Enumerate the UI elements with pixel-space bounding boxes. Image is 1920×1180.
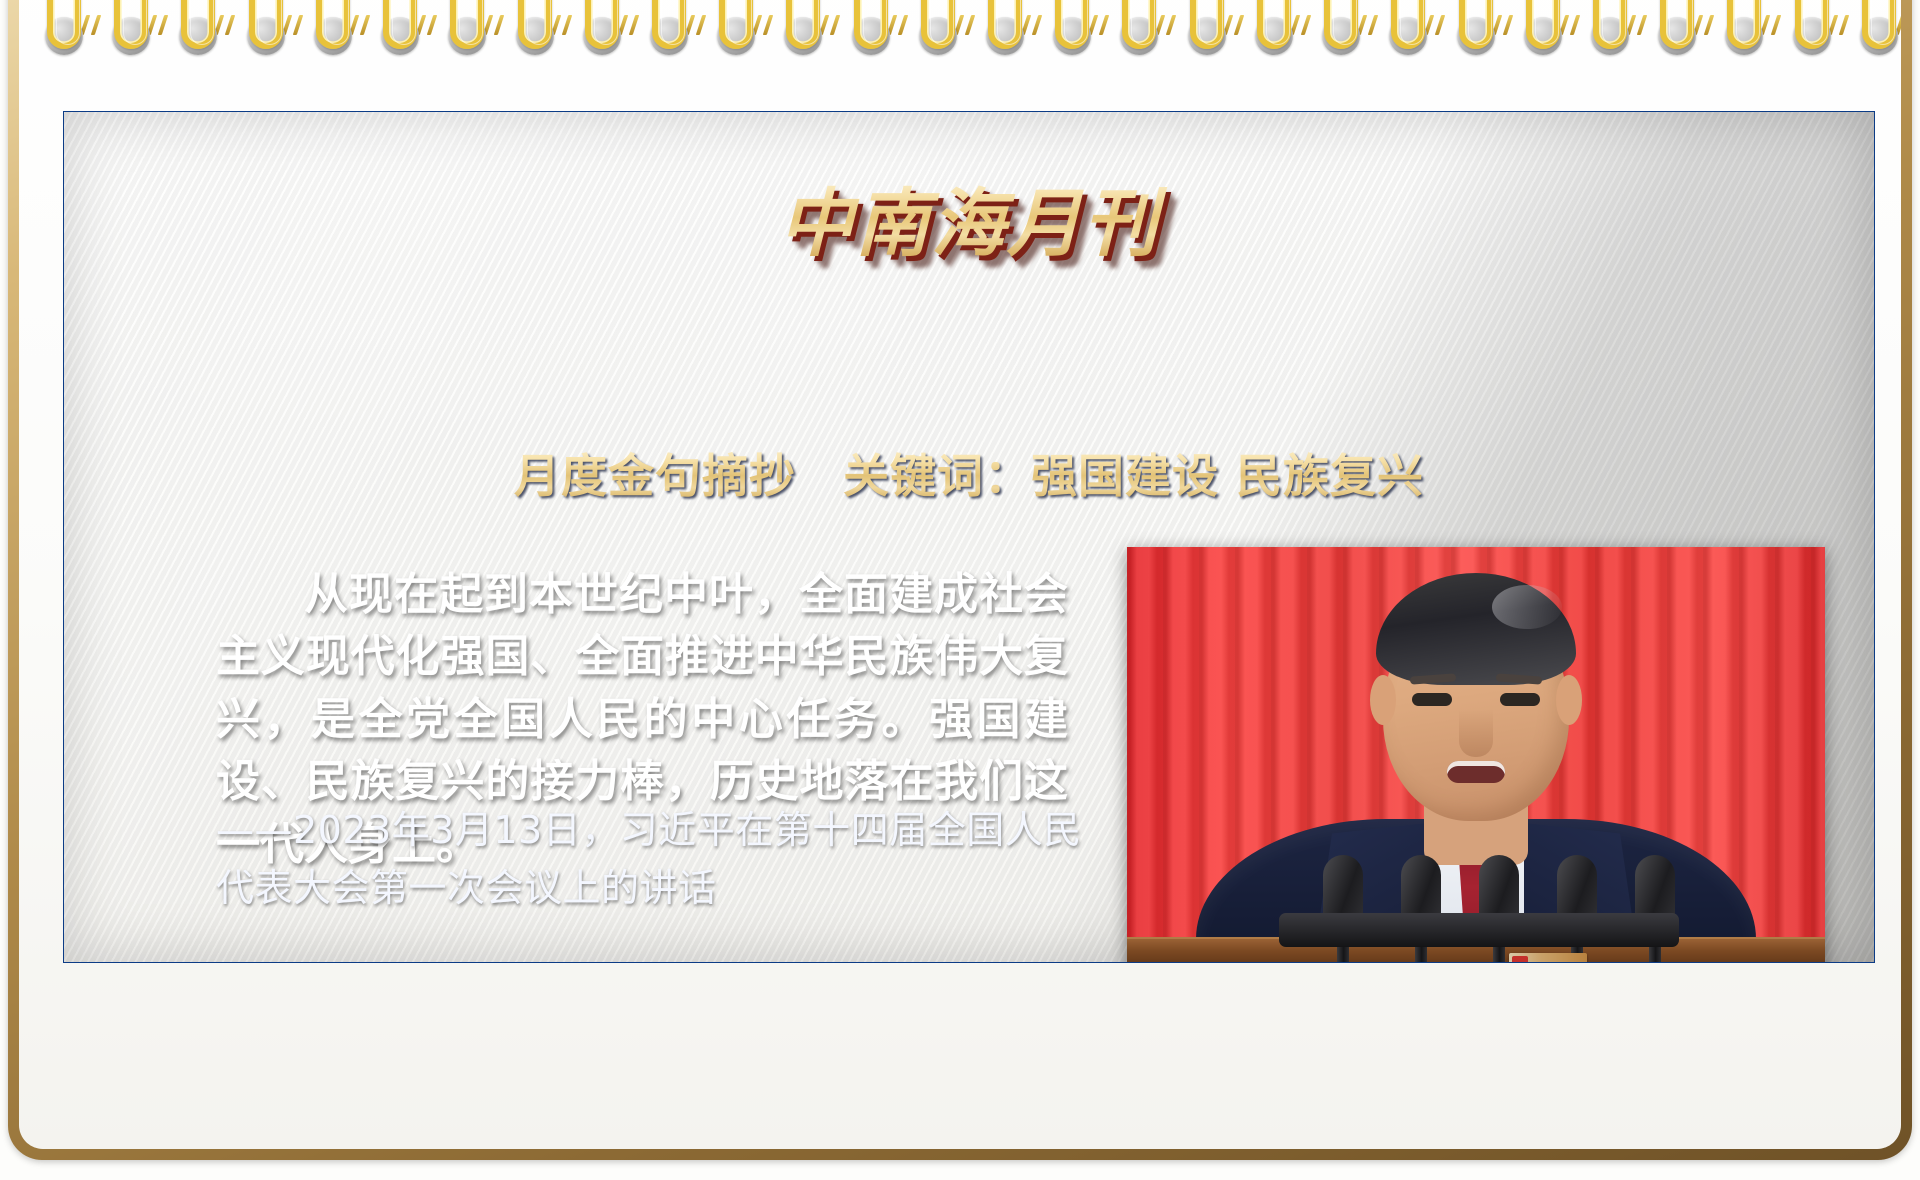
binding-tick [819, 15, 829, 35]
nose [1459, 709, 1493, 757]
binding-tick [1301, 15, 1311, 35]
page-subtitle: 月度金句摘抄 关键词：强国建设 民族复兴 [64, 440, 1874, 506]
binding-tick [954, 15, 964, 35]
binding-tick [965, 15, 975, 35]
binding-ring [1459, 0, 1493, 89]
content-card: 中南海月刊 月度金句摘抄 关键词：强国建设 民族复兴 从现在起到本世纪中叶，全面… [63, 111, 1875, 963]
binding-ring [450, 0, 484, 89]
binding-tick [1233, 15, 1243, 35]
binding-tick [830, 15, 840, 35]
binding-tick [225, 15, 235, 35]
binding-tick [1626, 15, 1636, 35]
eye-right [1500, 693, 1540, 706]
page-title: 中南海月刊 [64, 164, 1874, 271]
binding-tick [1558, 15, 1568, 35]
binding-ring [585, 0, 619, 89]
ear-left [1370, 675, 1396, 725]
binding-tick [685, 15, 695, 35]
binding-tick [561, 15, 571, 35]
speech-photo [1127, 547, 1825, 963]
binding-ring [854, 0, 888, 89]
binding-ring [383, 0, 417, 89]
binding-tick [628, 15, 638, 35]
binding-tick [550, 15, 560, 35]
binding-tick [1222, 15, 1232, 35]
attribution-line-1: ——2023年3月13日，习近平在第十四届全国人民 [216, 802, 1086, 860]
binding-tick [91, 15, 101, 35]
binding-tick [1166, 15, 1176, 35]
binding-tick [80, 15, 90, 35]
binding-tick [1502, 15, 1512, 35]
binding-tick [1021, 15, 1031, 35]
binding-ring [1257, 0, 1291, 89]
attribution-line-2: 代表大会第一次会议上的讲话 [216, 860, 1086, 918]
binding-ring [181, 0, 215, 89]
binding-tick [494, 15, 504, 35]
binding-tick [281, 15, 291, 35]
ear-right [1556, 675, 1582, 725]
binding-tick [1838, 15, 1848, 35]
binding-ring [921, 0, 955, 89]
binding-ring [1593, 0, 1627, 89]
binding-tick [1155, 15, 1165, 35]
binding-tick [1895, 15, 1901, 35]
binding-ring [1862, 0, 1896, 89]
binding-ring [1526, 0, 1560, 89]
binding-ring [249, 0, 283, 89]
binding-ring [1190, 0, 1224, 89]
binding-ring [988, 0, 1022, 89]
binding-ring [1122, 0, 1156, 89]
binding-tick [416, 15, 426, 35]
binding-tick [763, 15, 773, 35]
binding-tick [360, 15, 370, 35]
binding-ring [1795, 0, 1829, 89]
binding-tick [1290, 15, 1300, 35]
binding-tick [427, 15, 437, 35]
binding-ring [719, 0, 753, 89]
binding-tick [147, 15, 157, 35]
binding-tick [158, 15, 168, 35]
binding-tick [1637, 15, 1647, 35]
binding-ring [652, 0, 686, 89]
binding-tick [886, 15, 896, 35]
binding-tick [1088, 15, 1098, 35]
binding-ring [518, 0, 552, 89]
binding-ring [1660, 0, 1694, 89]
binding-tick [1424, 15, 1434, 35]
binding-tick [696, 15, 706, 35]
binding-tick [1569, 15, 1579, 35]
binding-tick [1368, 15, 1378, 35]
binding-ring [1055, 0, 1089, 89]
binding-tick [1771, 15, 1781, 35]
eye-left [1412, 693, 1452, 706]
binding-ring [47, 0, 81, 89]
binding-ring [1391, 0, 1425, 89]
binding-ring [1727, 0, 1761, 89]
binding-tick [292, 15, 302, 35]
binding-tick [214, 15, 224, 35]
binding-tick [752, 15, 762, 35]
binding-tick [1693, 15, 1703, 35]
delegate-name-badge [1509, 953, 1587, 963]
binding-tick [1099, 15, 1109, 35]
binding-tick [897, 15, 907, 35]
binding-ring [1324, 0, 1358, 89]
binding-tick [1827, 15, 1837, 35]
binding-tick [1704, 15, 1714, 35]
quote-attribution: ——2023年3月13日，习近平在第十四届全国人民 代表大会第一次会议上的讲话 [216, 802, 1086, 918]
binding-ring [316, 0, 350, 89]
microphone-mount-bar [1279, 913, 1679, 947]
binding-tick [349, 15, 359, 35]
binding-ring [114, 0, 148, 89]
mouth [1447, 761, 1505, 783]
binding-tick [1435, 15, 1445, 35]
binding-tick [1032, 15, 1042, 35]
binding-tick [1491, 15, 1501, 35]
binding-tick [617, 15, 627, 35]
binding-ring [786, 0, 820, 89]
calendar-page: 中南海月刊 月度金句摘抄 关键词：强国建设 民族复兴 从现在起到本世纪中叶，全面… [19, 0, 1901, 1149]
binding-tick [483, 15, 493, 35]
binding-tick [1760, 15, 1770, 35]
binding-tick [1357, 15, 1367, 35]
calendar-gold-frame: 中南海月刊 月度金句摘抄 关键词：强国建设 民族复兴 从现在起到本世纪中叶，全面… [8, 0, 1912, 1160]
